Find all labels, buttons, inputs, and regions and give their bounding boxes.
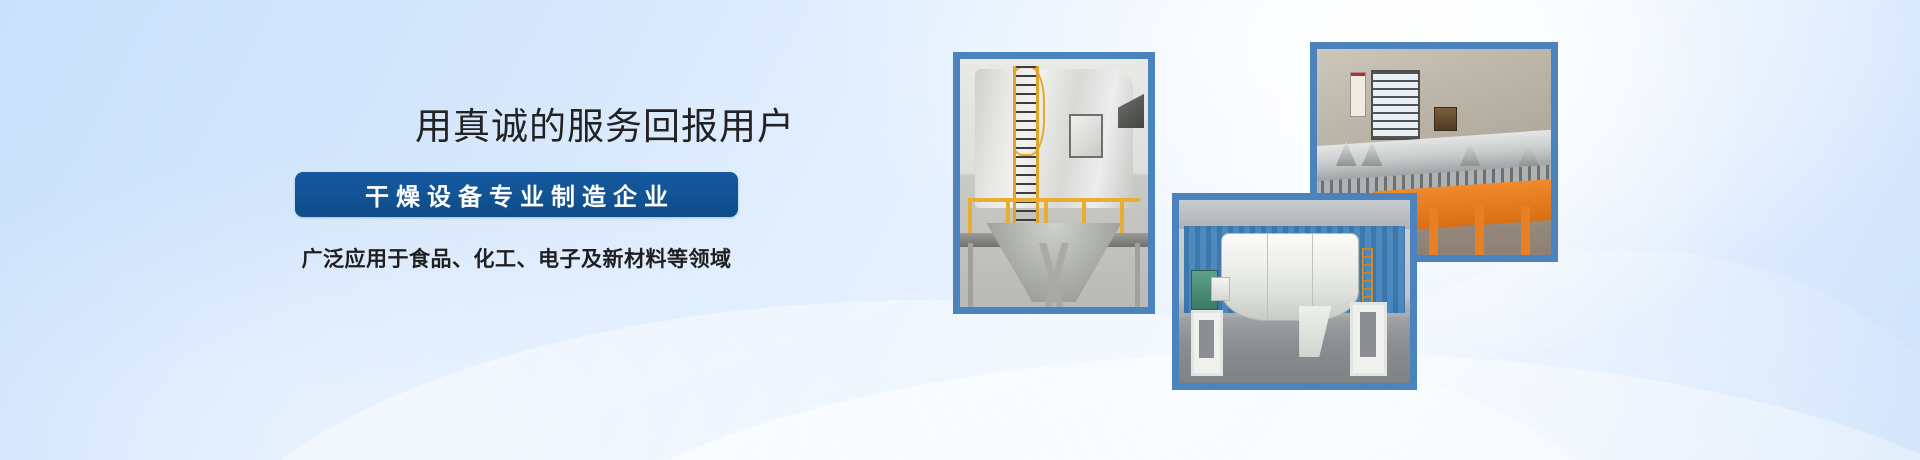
hero-banner: 用真诚的服务回报用户 干燥设备专业制造企业 广泛应用于食品、化工、电子及新材料等…	[0, 0, 1920, 460]
photo-image-mixer	[1179, 200, 1410, 383]
photo-image-tower	[960, 59, 1148, 307]
spray-dryer-tower-photo[interactable]	[953, 52, 1155, 314]
photo-collage	[0, 0, 1920, 460]
ribbon-mixer-photo[interactable]	[1172, 193, 1417, 390]
